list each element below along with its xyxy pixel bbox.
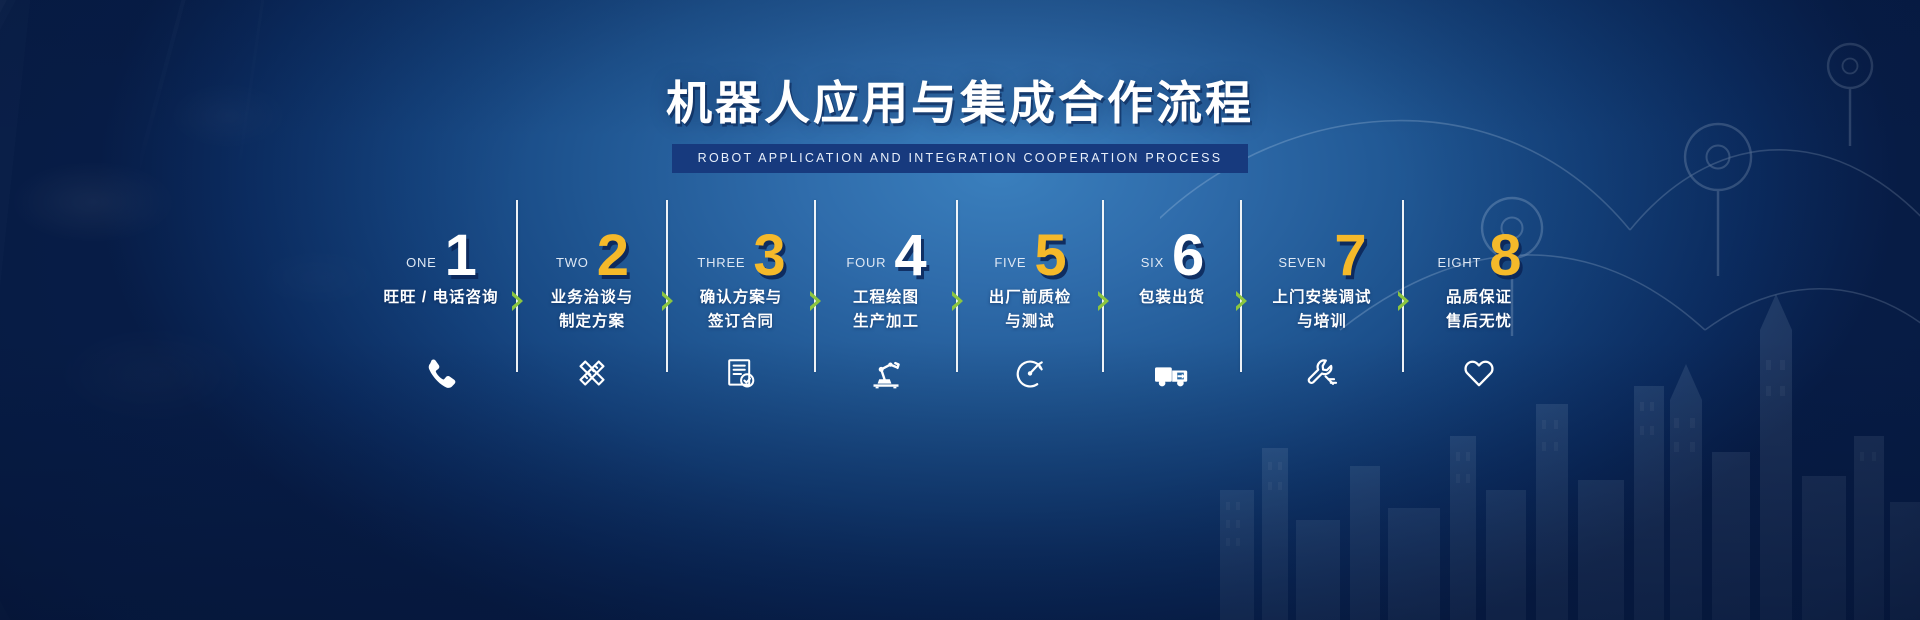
step-label: 业务治谈与制定方案 (518, 286, 666, 334)
step-number: 8 (1489, 232, 1520, 280)
process-step-6[interactable]: SIX6包装出货 (1104, 200, 1240, 391)
step-label: 出厂前质检与测试 (958, 286, 1102, 334)
robot-arm-icon (816, 356, 956, 390)
banner-header: 机器人应用与集成合作流程 ROBOT APPLICATION AND INTEG… (0, 78, 1920, 173)
step-label-line1: 旺旺 / 电话咨询 (384, 289, 499, 306)
delivery-truck-icon (1104, 357, 1240, 391)
page-subtitle: ROBOT APPLICATION AND INTEGRATION COOPER… (698, 151, 1223, 165)
step-arrow-icon (661, 291, 674, 311)
step-label-line1: 出厂前质检 (989, 289, 1072, 306)
ruler-pencil-icon (518, 356, 666, 390)
step-label-line2: 制定方案 (518, 310, 666, 334)
step-ordinal-label: SIX (1141, 255, 1164, 270)
step-arrow-icon (1235, 291, 1248, 311)
step-arrow-icon (511, 291, 524, 311)
step-ordinal-label: THREE (697, 255, 745, 270)
step-arrow-icon (951, 291, 964, 311)
process-step-7[interactable]: SEVEN7上门安装调试与培训 (1242, 200, 1402, 390)
process-step-4[interactable]: FOUR4工程绘图生产加工 (816, 200, 956, 390)
banner-stage: 机器人应用与集成合作流程 ROBOT APPLICATION AND INTEG… (0, 0, 1920, 620)
step-ordinal-label: EIGHT (1438, 255, 1482, 270)
step-label-line1: 业务治谈与 (551, 289, 634, 306)
step-label: 品质保证售后无忧 (1404, 286, 1554, 334)
step-label-line1: 上门安装调试 (1272, 289, 1371, 306)
wrench-screwdriver-icon (1242, 356, 1402, 390)
step-arrow-icon (1097, 291, 1110, 311)
step-label: 上门安装调试与培训 (1242, 286, 1402, 334)
process-step-8[interactable]: EIGHT8品质保证售后无忧 (1404, 200, 1554, 390)
step-arrow-icon (809, 291, 822, 311)
step-ordinal-label: TWO (556, 255, 589, 270)
step-ordinal-label: FOUR (846, 255, 886, 270)
step-number: 1 (445, 232, 476, 280)
step-label: 确认方案与签订合同 (668, 286, 814, 334)
step-label-line1: 包装出货 (1139, 289, 1205, 306)
process-step-3[interactable]: THREE3确认方案与签订合同 (668, 200, 814, 390)
process-step-2[interactable]: TWO2业务治谈与制定方案 (518, 200, 666, 390)
step-label-line2: 签订合同 (668, 310, 814, 334)
step-label: 工程绘图生产加工 (816, 286, 956, 334)
step-label-line2: 生产加工 (816, 310, 956, 334)
step-label-line1: 确认方案与 (700, 289, 783, 306)
step-label-line2: 与培训 (1242, 310, 1402, 334)
gauge-icon (958, 356, 1102, 390)
step-label-line1: 工程绘图 (853, 289, 919, 306)
contract-check-icon (668, 356, 814, 390)
step-number: 3 (753, 232, 784, 280)
process-step-5[interactable]: FIVE5出厂前质检与测试 (958, 200, 1102, 390)
step-number: 2 (597, 232, 628, 280)
step-number: 5 (1034, 232, 1065, 280)
step-ordinal-label: ONE (406, 255, 437, 270)
process-step-list: ONE1旺旺 / 电话咨询TWO2业务治谈与制定方案 THREE3确认方案与签订… (0, 200, 1920, 380)
page-title: 机器人应用与集成合作流程 (0, 78, 1920, 130)
step-label-line1: 品质保证 (1446, 289, 1512, 306)
step-number: 7 (1334, 232, 1365, 280)
phone-icon (366, 357, 516, 391)
step-label-line2: 售后无忧 (1404, 310, 1554, 334)
heart-icon (1404, 356, 1554, 390)
step-number: 6 (1172, 232, 1203, 280)
step-label: 包装出货 (1104, 286, 1240, 310)
step-label: 旺旺 / 电话咨询 (366, 286, 516, 310)
subtitle-bar: ROBOT APPLICATION AND INTEGRATION COOPER… (672, 144, 1249, 173)
step-label-line2: 与测试 (958, 310, 1102, 334)
step-ordinal-label: SEVEN (1278, 255, 1326, 270)
step-number: 4 (894, 232, 925, 280)
step-arrow-icon (1397, 291, 1410, 311)
step-ordinal-label: FIVE (994, 255, 1026, 270)
process-step-1[interactable]: ONE1旺旺 / 电话咨询 (366, 200, 516, 391)
